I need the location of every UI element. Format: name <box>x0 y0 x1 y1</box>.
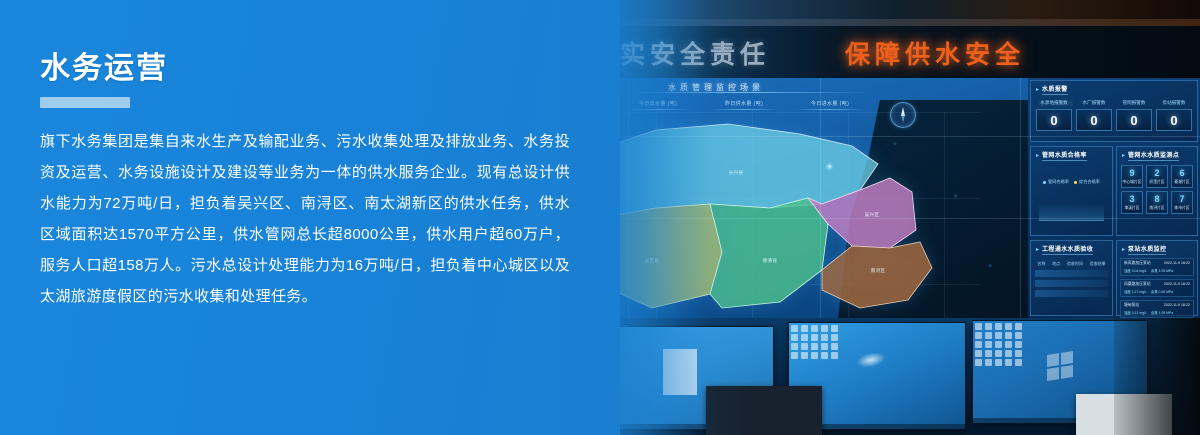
list-item: 塘甸泵站 2022-11-9 18:22 浊度 0.12 mg/L 余氯 1.0… <box>1120 300 1194 318</box>
desktop-icon <box>791 352 798 359</box>
station-metrics: 浊度 0.12 mg/L 余氯 1.08 MPa <box>1124 310 1190 315</box>
table-row <box>1035 280 1108 287</box>
station-time: 2022-11-9 18:22 <box>1164 261 1190 265</box>
table-column-header: 验收结果 <box>1090 261 1106 267</box>
alarm-value: 0 <box>1116 109 1152 131</box>
desktop-icon <box>975 359 982 366</box>
text-content: 水务运营 旗下水务集团是集自来水生产及输配业务、污水收集处理及排放业务、水务投资… <box>40 52 570 312</box>
alarm-cell: 泵站报警数 0 <box>1156 100 1192 131</box>
alarm-label: 泵站报警数 <box>1156 100 1192 106</box>
promo-banner: 落实安全责任 保障供水安全 水质管理监控场景 今日供水量 (万吨) 今日出水量 … <box>0 0 1200 435</box>
page-title: 水务运营 <box>40 52 570 86</box>
ceiling-strip <box>520 0 1200 26</box>
desktop-icon <box>801 325 808 332</box>
monitoring-point-cell: 9 中心城片区 <box>1121 165 1143 188</box>
card-title: 泵站水质监控 <box>1128 244 1166 255</box>
table-column-header: 地点 <box>1052 261 1060 267</box>
desktop-icon <box>811 334 818 341</box>
desktop-icon <box>1005 332 1012 339</box>
card-header: ▸ 管网水质合格率 <box>1031 147 1112 161</box>
legend-label: 管网合格率 <box>1048 179 1069 185</box>
map-svg: 长兴县 安吉县 德清县 吴兴区 南浔区 <box>560 112 980 318</box>
operator-desk <box>520 318 1200 435</box>
station-metrics: 浊度 1.17 mg/L 余氯 0.05 MPa <box>1124 289 1190 294</box>
desktop-icon <box>811 325 818 332</box>
desktop-icon <box>1005 323 1012 330</box>
desktop-icon <box>791 343 798 350</box>
legend-label: 综合合格率 <box>1079 179 1100 185</box>
desktop-icon <box>831 334 838 341</box>
video-wall-seam <box>820 78 821 318</box>
chevron-right-icon: ▸ <box>1036 247 1039 253</box>
desktop-icon <box>821 334 828 341</box>
dashboard-screen: 水质管理监控场景 今日供水量 (万吨) 今日出水量 (吨) 昨日供水量 (吨) … <box>520 78 1200 318</box>
legend-entry: 综合合格率 <box>1074 179 1100 185</box>
point-count: 3 <box>1122 195 1142 204</box>
kpi-rule <box>710 109 778 110</box>
card-header: ▸ 水质报警 <box>1031 81 1197 95</box>
card-pump-station-monitoring: ▸ 泵站水质监控 新风路加压泵站 2022-11-9 18:22 浊度 0.04… <box>1116 240 1198 316</box>
video-wall-seam <box>1020 78 1021 318</box>
station-metric: 浊度 0.04 mg/L <box>1124 268 1147 273</box>
point-count: 9 <box>1122 169 1142 178</box>
desktop-icon <box>985 359 992 366</box>
point-label: 练市片区 <box>1172 206 1192 211</box>
desktop-icon <box>821 325 828 332</box>
control-room-photo: 落实安全责任 保障供水安全 水质管理监控场景 今日供水量 (万吨) 今日出水量 … <box>520 0 1200 435</box>
map-pin <box>825 162 834 171</box>
desktop-icon <box>831 343 838 350</box>
open-laptop <box>706 386 822 435</box>
station-metric: 余氯 1.08 MPa <box>1151 310 1173 315</box>
desktop-icon <box>985 341 992 348</box>
title-underline <box>40 97 130 108</box>
station-metric: 余氯 0.05 MPa <box>1151 289 1173 294</box>
body-paragraph: 旗下水务集团是集自来水生产及输配业务、污水收集处理及排放业务、水务投资及运营、水… <box>40 126 570 312</box>
station-time: 2022-11-9 18:22 <box>1164 303 1190 307</box>
desktop-icon <box>975 323 982 330</box>
desktop-icon <box>1015 359 1022 366</box>
chart-legend: 管网合格率 综合合格率 <box>1031 179 1112 185</box>
video-wall-seam <box>520 136 1200 137</box>
kpi-item: 昨日供水量 (吨) <box>706 100 782 110</box>
desktop-icon <box>995 350 1002 357</box>
card-title: 水质报警 <box>1042 84 1068 95</box>
point-label: 南浔片区 <box>1147 206 1167 211</box>
point-count: 7 <box>1172 195 1192 204</box>
monitoring-point-cell: 3 埭溪片区 <box>1121 191 1143 214</box>
alarm-cell: 管网报警数 0 <box>1116 100 1152 131</box>
alarm-value: 0 <box>1076 109 1112 131</box>
point-label: 中心城片区 <box>1122 180 1142 185</box>
desktop-icon <box>831 325 838 332</box>
map-label-wuxing: 吴兴区 <box>865 211 880 218</box>
video-wall-seam <box>520 218 1200 219</box>
table-header-row: 名称 地点 验收时间 验收结果 <box>1031 255 1112 267</box>
kpi-label: 今日进水量 (吨) <box>792 100 868 107</box>
card-title: 管网水水质监测点 <box>1128 150 1179 161</box>
desktop-icon <box>1005 350 1012 357</box>
alarm-label: 水源地报警数 <box>1036 100 1072 106</box>
desktop-icon <box>975 341 982 348</box>
alarm-cell: 水源地报警数 0 <box>1036 100 1072 131</box>
card-header: ▸ 工程通水水质验收 <box>1031 241 1112 255</box>
station-metric: 浊度 1.17 mg/L <box>1124 289 1147 294</box>
map-label-deqing: 德清县 <box>763 257 778 264</box>
legend-swatch <box>1043 181 1046 184</box>
card-title: 管网水质合格率 <box>1042 150 1087 161</box>
desktop-icon <box>1005 359 1012 366</box>
kpi-rule <box>624 109 692 110</box>
list-item: 新风路加压泵站 2022-11-9 18:22 浊度 0.04 mg/L 余氯 … <box>1120 258 1194 276</box>
desktop-icon <box>1015 323 1022 330</box>
chevron-right-icon: ▸ <box>1122 247 1125 253</box>
table-column-header: 名称 <box>1037 261 1045 267</box>
kpi-item: 今日出水量 (吨) <box>620 100 696 110</box>
kpi-item: 今日进水量 (吨) <box>792 100 868 110</box>
desk-shadow <box>1114 318 1200 435</box>
card-pipeline-monitoring-points: ▸ 管网水水质监测点 9 中心城片区 2 织里片区 6 <box>1116 146 1198 236</box>
dashboard-caption: 水质管理监控场景 <box>668 82 764 93</box>
card-pipeline-qualification-rate: ▸ 管网水质合格率 管网合格率 综合合格率 <box>1030 146 1113 236</box>
chevron-right-icon: ▸ <box>1036 87 1039 93</box>
desktop-icon <box>801 334 808 341</box>
wallpaper-swimmer <box>855 350 887 370</box>
card-water-quality-alarm: ▸ 水质报警 水源地报警数 0 水厂报警数 0 管网报警数 <box>1030 80 1198 142</box>
desktop-icon <box>995 332 1002 339</box>
station-metric: 余氯 1.05 MPa <box>1151 268 1173 273</box>
kpi-label: 昨日供水量 (吨) <box>706 100 782 107</box>
monitoring-point-cell: 7 练市片区 <box>1171 191 1193 214</box>
desktop-icon <box>1015 341 1022 348</box>
dashboard-card-column: ▸ 水质报警 水源地报警数 0 水厂报警数 0 管网报警数 <box>1028 78 1200 318</box>
video-wall-seam <box>628 78 629 318</box>
desktop-icon <box>791 325 798 332</box>
alarm-value: 0 <box>1156 109 1192 131</box>
desktop-icon <box>831 352 838 359</box>
legend-entry: 管网合格率 <box>1043 179 1069 185</box>
desktop-icon <box>821 343 828 350</box>
point-count: 8 <box>1147 195 1167 204</box>
table-row <box>1035 270 1108 277</box>
desktop-icon <box>995 341 1002 348</box>
table-column-header: 验收时间 <box>1067 261 1083 267</box>
station-metrics: 浊度 0.04 mg/L 余氯 1.05 MPa <box>1124 268 1190 273</box>
alarm-cell: 水厂报警数 0 <box>1076 100 1112 131</box>
desktop-icon <box>995 359 1002 366</box>
map-label-anji: 安吉县 <box>645 257 660 264</box>
legend-swatch <box>1074 181 1077 184</box>
chevron-right-icon: ▸ <box>1122 153 1125 159</box>
desktop-icon-grid <box>791 325 839 359</box>
point-label: 织里片区 <box>1147 180 1167 185</box>
point-label: 菱湖片区 <box>1172 180 1192 185</box>
table-row <box>1035 290 1108 297</box>
chevron-right-icon: ▸ <box>1036 153 1039 159</box>
card-header: ▸ 管网水水质监测点 <box>1117 147 1197 161</box>
card-header: ▸ 泵站水质监控 <box>1117 241 1197 255</box>
point-count: 6 <box>1172 169 1192 178</box>
desktop-icon <box>801 352 808 359</box>
alarm-row: 水源地报警数 0 水厂报警数 0 管网报警数 0 泵站报警数 <box>1031 95 1197 131</box>
map-region-nanxun <box>822 242 932 308</box>
led-slogan-right: 保障供水安全 <box>845 26 1025 84</box>
desktop-icon <box>1015 332 1022 339</box>
card-project-water-acceptance: ▸ 工程通水水质验收 名称 地点 验收时间 验收结果 <box>1030 240 1113 316</box>
card-title: 工程通水水质验收 <box>1042 244 1093 255</box>
alarm-label: 水厂报警数 <box>1076 100 1112 106</box>
alarm-label: 管网报警数 <box>1116 100 1152 106</box>
desktop-icon <box>975 350 982 357</box>
map-region-deqing <box>710 198 828 308</box>
desktop-icon <box>985 323 992 330</box>
alarm-value: 0 <box>1036 109 1072 131</box>
desktop-icon <box>1005 341 1012 348</box>
desktop-icon <box>801 343 808 350</box>
windows-logo-icon <box>1047 351 1073 381</box>
monitoring-point-grid: 9 中心城片区 2 织里片区 6 菱湖片区 3 <box>1117 161 1197 214</box>
kpi-label: 今日出水量 (吨) <box>620 100 696 107</box>
map-label-changxing: 长兴县 <box>729 169 744 176</box>
desktop-icon <box>821 352 828 359</box>
kpi-rule <box>796 109 864 110</box>
desktop-icon <box>811 352 818 359</box>
desktop-icon <box>985 350 992 357</box>
desktop-icon <box>791 334 798 341</box>
desktop-icon <box>995 323 1002 330</box>
monitoring-point-cell: 6 菱湖片区 <box>1171 165 1193 188</box>
point-label: 埭溪片区 <box>1122 206 1142 211</box>
monitoring-point-cell: 2 织里片区 <box>1146 165 1168 188</box>
list-item: 凤凰路加压泵站 2022-11-9 18:22 浊度 1.17 mg/L 余氯 … <box>1120 279 1194 297</box>
desktop-icon <box>985 332 992 339</box>
document-window <box>663 349 697 395</box>
point-count: 2 <box>1147 169 1167 178</box>
desktop-icon <box>1015 350 1022 357</box>
region-map: 长兴县 安吉县 德清县 吴兴区 南浔区 <box>560 112 980 318</box>
station-time: 2022-11-9 18:22 <box>1164 282 1190 286</box>
map-label-nanxun: 南浔区 <box>871 267 886 274</box>
monitoring-point-cell: 8 南浔片区 <box>1146 191 1168 214</box>
desktop-icon <box>975 332 982 339</box>
desktop-icon-grid <box>975 323 1023 366</box>
station-metric: 浊度 0.12 mg/L <box>1124 310 1147 315</box>
desktop-icon <box>811 343 818 350</box>
